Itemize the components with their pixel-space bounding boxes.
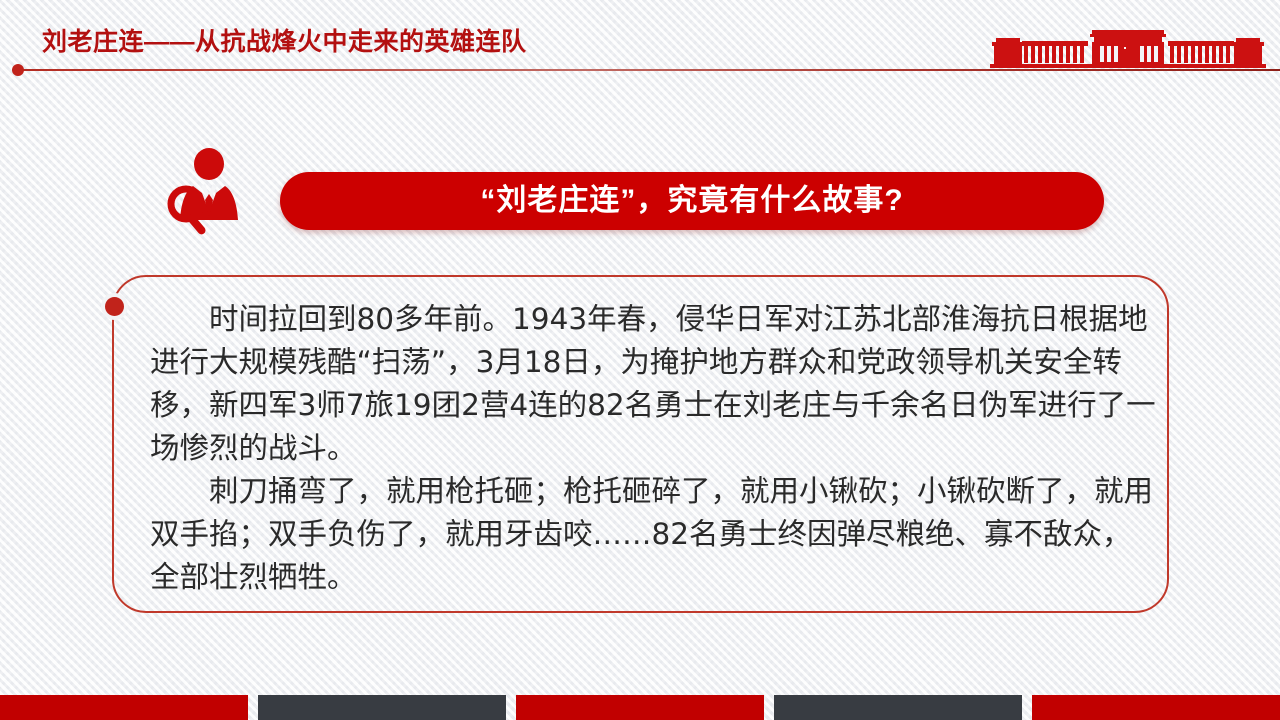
footer-block-4	[774, 695, 1022, 720]
content-paragraph-1: 时间拉回到80多年前。1943年春，侵华日军对江苏北部淮海抗日根据地进行大规模残…	[150, 298, 1160, 470]
header-divider-dot	[12, 64, 24, 76]
footer-block-2	[258, 695, 506, 720]
content-paragraph-2: 刺刀捅弯了，就用枪托砸；枪托砸碎了，就用小锹砍；小锹砍断了，就用双手掐；双手负伤…	[150, 470, 1160, 599]
footer-block-1	[0, 695, 248, 720]
content-card-dot	[105, 297, 124, 316]
great-hall-of-the-people-icon	[988, 28, 1268, 70]
footer-bar	[0, 695, 1280, 720]
page-title: 刘老庄连——从抗战烽火中走来的英雄连队	[42, 22, 527, 58]
content-body: 时间拉回到80多年前。1943年春，侵华日军对江苏北部淮海抗日根据地进行大规模残…	[150, 298, 1160, 599]
person-with-magnifier-icon	[163, 146, 249, 238]
footer-block-3	[516, 695, 764, 720]
section-banner-label: “刘老庄连”，究竟有什么故事?	[480, 186, 903, 216]
footer-block-5	[1032, 695, 1280, 720]
section-banner[interactable]: “刘老庄连”，究竟有什么故事?	[280, 172, 1104, 230]
slide-canvas: 刘老庄连——从抗战烽火中走来的英雄连队	[0, 0, 1280, 720]
